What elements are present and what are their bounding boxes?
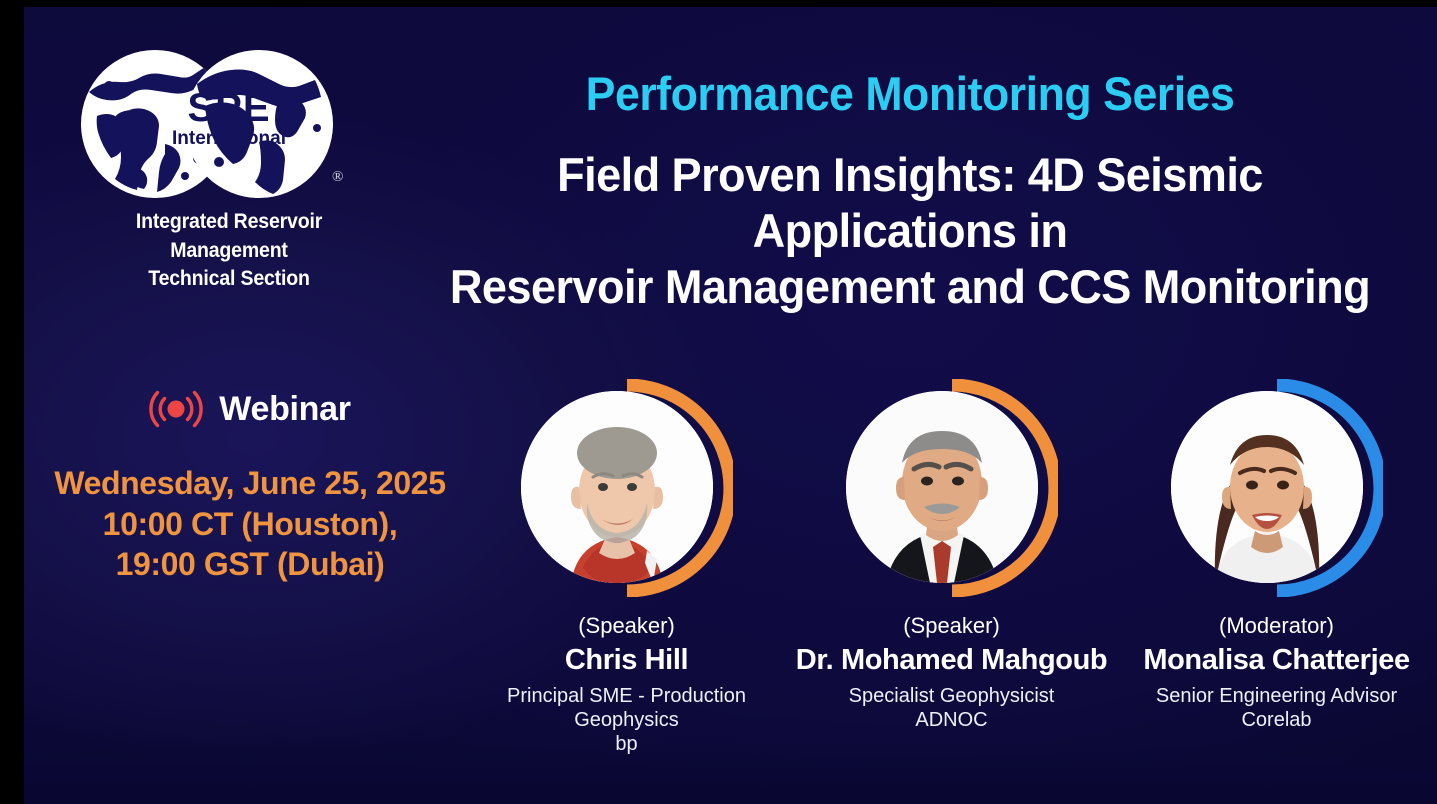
person-org: Corelab xyxy=(1114,708,1437,732)
person-org: bp xyxy=(464,732,789,756)
avatar-photo xyxy=(1171,391,1363,583)
person-card: (Moderator) Monalisa Chatterjee Senior E… xyxy=(1114,379,1437,732)
spe-logo-caption: Integrated Reservoir Management Technica… xyxy=(76,208,383,294)
avatar-photo xyxy=(846,391,1038,583)
headline-block: Performance Monitoring Series Field Prov… xyxy=(410,69,1410,315)
spe-logo-globes: SPE International ® xyxy=(79,42,379,202)
avatar xyxy=(1171,379,1383,597)
person-title: Principal SME - Production Geophysics xyxy=(464,684,789,732)
page-title-line2: Reservoir Management and CCS Monitoring xyxy=(430,259,1390,315)
person-title: Specialist Geophysicist xyxy=(789,684,1114,708)
people-row: (Speaker) Chris Hill Principal SME - Pro… xyxy=(464,379,1437,756)
avatar xyxy=(846,379,1058,597)
event-time-gst: 19:00 GST (Dubai) xyxy=(50,544,450,585)
broadcast-live-icon xyxy=(149,385,203,433)
webinar-format-label: Webinar xyxy=(219,390,350,429)
registered-trademark-icon: ® xyxy=(332,169,343,186)
person-card: (Speaker) Chris Hill Principal SME - Pro… xyxy=(464,379,789,756)
person-name: Dr. Mohamed Mahgoub xyxy=(789,643,1114,677)
spe-logo: SPE International ® Integrated Reservoir… xyxy=(64,42,394,294)
avatar xyxy=(521,379,733,597)
person-role: (Speaker) xyxy=(789,613,1114,638)
event-time-ct: 10:00 CT (Houston), xyxy=(50,504,450,545)
person-name: Chris Hill xyxy=(464,643,789,677)
spe-logo-caption-line1: Integrated Reservoir Management xyxy=(76,208,383,265)
person-card: (Speaker) Dr. Mohamed Mahgoub Specialist… xyxy=(789,379,1114,732)
event-datetime: Wednesday, June 25, 2025 10:00 CT (Houst… xyxy=(50,463,450,585)
slide-canvas: SPE International ® Integrated Reservoir… xyxy=(24,7,1437,804)
page-title: Field Proven Insights: 4D Seismic Applic… xyxy=(430,147,1390,315)
avatar-photo xyxy=(521,391,713,583)
person-org: ADNOC xyxy=(789,708,1114,732)
series-title: Performance Monitoring Series xyxy=(435,69,1385,120)
event-date: Wednesday, June 25, 2025 xyxy=(50,463,450,504)
slide-frame: SPE International ® Integrated Reservoir… xyxy=(0,0,1437,804)
webinar-format-row: Webinar xyxy=(60,385,440,433)
globe-right-icon xyxy=(185,50,333,198)
person-role: (Moderator) xyxy=(1114,613,1437,638)
person-role: (Speaker) xyxy=(464,613,789,638)
person-title: Senior Engineering Advisor xyxy=(1114,684,1437,708)
page-title-line1: Field Proven Insights: 4D Seismic Applic… xyxy=(430,147,1390,259)
spe-logo-caption-line2: Technical Section xyxy=(76,265,383,294)
person-name: Monalisa Chatterjee xyxy=(1114,643,1437,677)
